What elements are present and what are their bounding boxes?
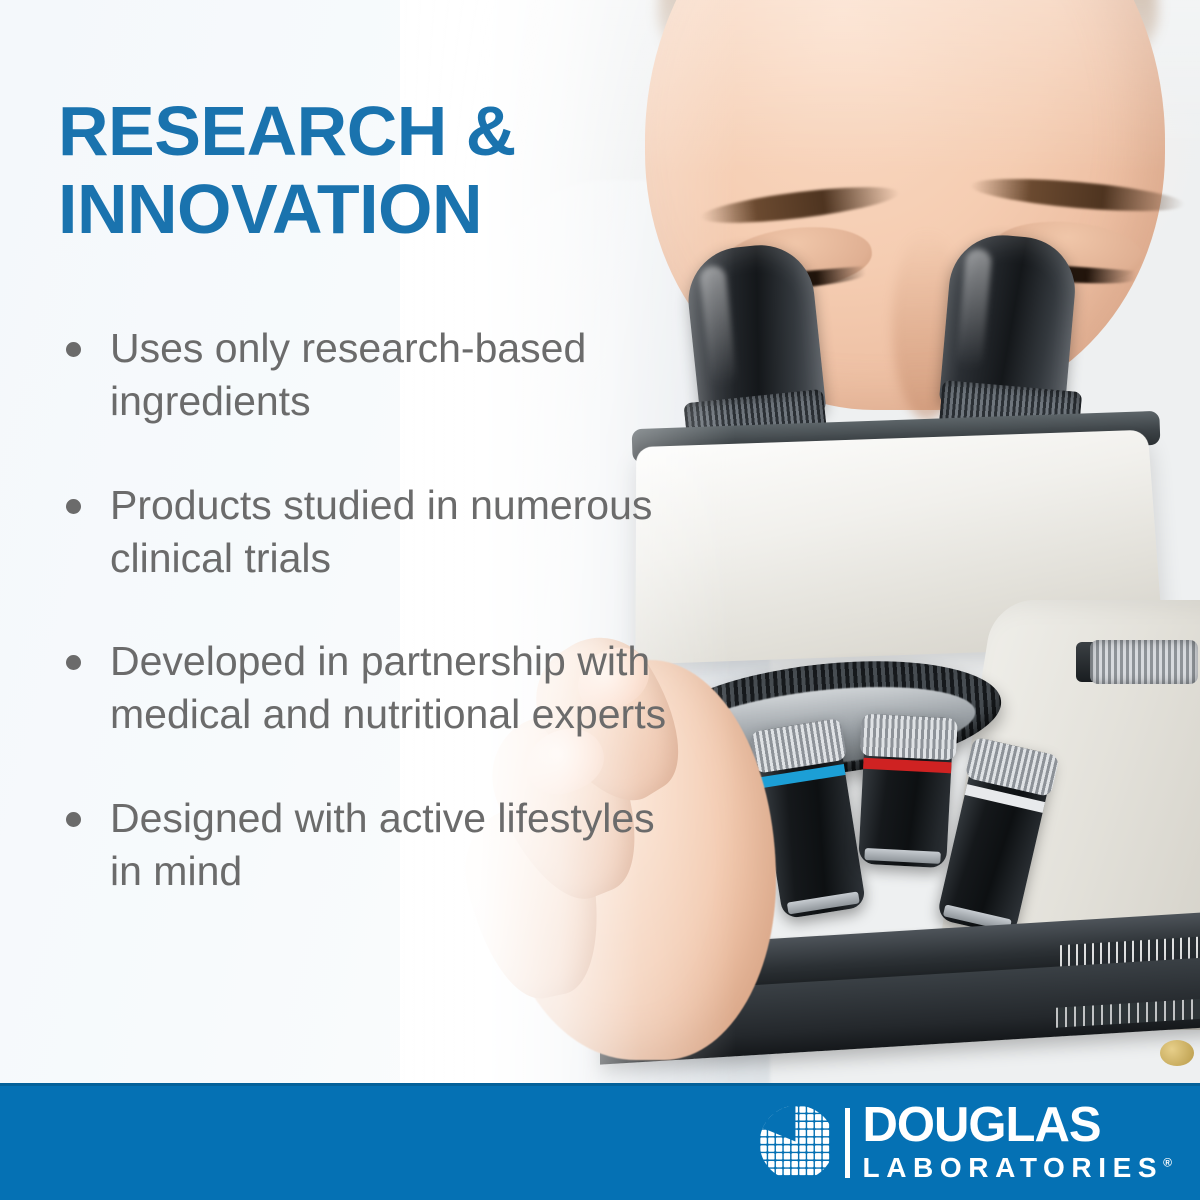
bullet-dot-icon [66,812,81,827]
logo-brand-text: DOUGLAS [863,1102,1172,1149]
bullet-dot-icon [66,655,81,670]
list-item: Uses only research-based ingredients [58,322,678,429]
list-item-label: Products studied in numerous clinical tr… [110,482,652,581]
page-title: RESEARCH & INNOVATION [58,92,658,249]
bullet-dot-icon [66,499,81,514]
benefits-list: Uses only research-based ingredients Pro… [58,322,678,898]
registered-trademark-icon: ® [1163,1156,1172,1170]
list-item-label: Developed in partnership with medical an… [110,638,666,737]
logo-subbrand-text: LABORATORIES® [863,1152,1172,1183]
list-item: Developed in partnership with medical an… [58,635,678,742]
douglas-wafer-mark-icon [758,1104,836,1182]
brand-logo[interactable]: DOUGLAS LABORATORIES® [758,1097,1172,1189]
list-item-label: Designed with active lifestyles in mind [110,795,655,894]
list-item-label: Uses only research-based ingredients [110,325,586,424]
logo-subbrand-label: LABORATORIES [863,1152,1164,1183]
list-item: Designed with active lifestyles in mind [58,792,678,899]
infographic-canvas: RESEARCH & INNOVATION Uses only research… [0,0,1200,1200]
footer-bar: DOUGLAS LABORATORIES® [0,1083,1200,1200]
logo-divider [845,1108,850,1178]
bullet-dot-icon [66,342,81,357]
footer-top-hairline [0,1083,1200,1086]
logo-wordmark: DOUGLAS LABORATORIES® [863,1102,1172,1183]
list-item: Products studied in numerous clinical tr… [58,479,678,586]
